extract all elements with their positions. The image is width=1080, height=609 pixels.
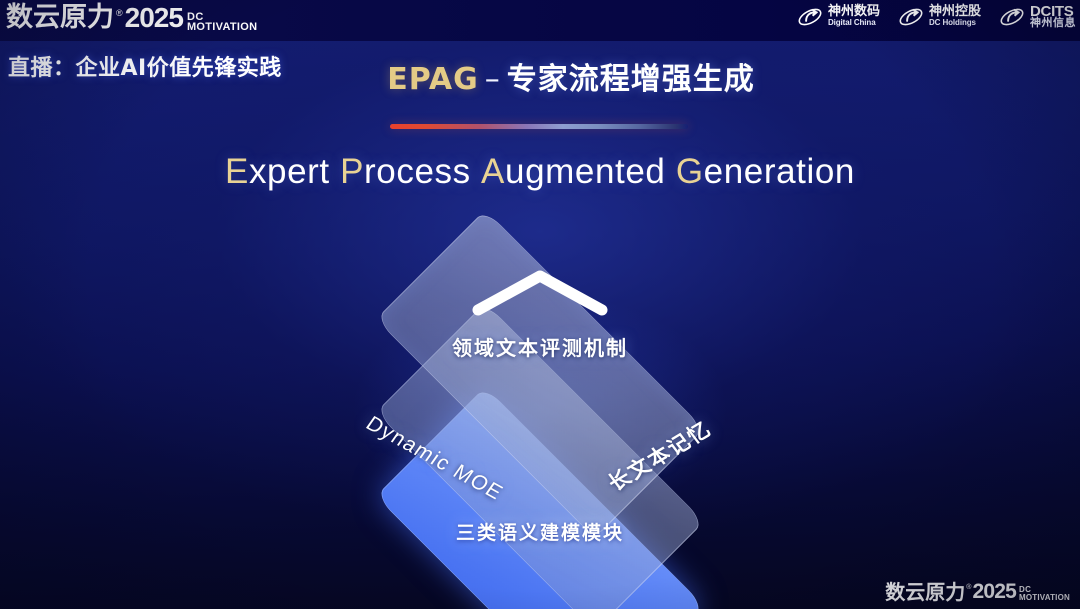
swirl-logo-icon <box>999 4 1025 30</box>
partner-name-cn: 神州控股 <box>929 6 981 17</box>
partner-logo-text: DCITS 神州信息 <box>1030 6 1076 28</box>
subtitle-rest-expert: xpert <box>249 152 330 191</box>
partner-logo-text: 神州控股 DC Holdings <box>929 6 981 28</box>
layered-architecture-diagram: 领域文本评测机制 Dynamic MOE 长文本记忆 三类语义建模模块 <box>0 224 1080 564</box>
subtitle-cap-a: A <box>481 152 505 191</box>
partner-logo-digital-china: 神州数码 Digital China <box>797 4 880 30</box>
swirl-logo-icon <box>797 4 823 30</box>
partner-logo-dc-holdings: 神州控股 DC Holdings <box>898 4 981 30</box>
subtitle-rest-augmented: ugmented <box>505 152 665 191</box>
subtitle-rest-process: rocess <box>364 152 471 191</box>
registered-mark: ® <box>116 5 123 33</box>
bottom-watermark-logo: 数云原力 ® 2025 DC MOTIVATION <box>885 581 1070 603</box>
swirl-logo-icon <box>898 4 924 30</box>
title-dash: – <box>479 62 507 97</box>
watermark-motivation: MOTIVATION <box>1019 594 1070 602</box>
partner-name-cn: 神州数码 <box>828 6 880 17</box>
subtitle-rest-generation: eneration <box>704 152 855 191</box>
partner-logo-text: 神州数码 Digital China <box>828 6 880 28</box>
watermark-name-cn: 数云原力 <box>885 581 965 603</box>
brand-name-cn: 数云原力 <box>6 3 114 33</box>
diagram-label-bottom: 三类语义建模模块 <box>0 518 1080 545</box>
subtitle-cap-p: P <box>340 152 364 191</box>
partner-name-cn: 神州信息 <box>1030 17 1076 28</box>
brand-dc-motivation: DC MOTIVATION <box>187 12 257 33</box>
watermark-year: 2025 <box>972 581 1016 603</box>
partner-logo-group: 神州数码 Digital China 神州控股 DC Holdings <box>797 4 1076 30</box>
partner-name-en: Digital China <box>828 17 880 28</box>
diagram-label-top: 领域文本评测机制 <box>0 332 1080 361</box>
page-title: EPAG–专家流程增强生成 <box>0 54 1080 98</box>
partner-logo-dcits: DCITS 神州信息 <box>999 4 1076 30</box>
brand-logo: 数云原力 ® 2025 DC MOTIVATION <box>6 3 257 33</box>
partner-name-en: DC Holdings <box>929 17 981 28</box>
brand-year: 2025 <box>125 3 183 33</box>
subtitle-expansion: Expert Process Augmented Generation <box>0 152 1080 192</box>
watermark-registered-mark: ® <box>966 582 971 603</box>
title-chinese: 专家流程增强生成 <box>507 62 755 97</box>
presentation-slide: 数云原力 ® 2025 DC MOTIVATION 神州数码 Digital C… <box>0 0 1080 609</box>
gradient-divider <box>390 124 688 129</box>
diagram-layer-top <box>385 219 695 529</box>
watermark-dc-motivation: DC MOTIVATION <box>1019 586 1070 603</box>
plate-face <box>376 210 705 539</box>
chevron-up-icon <box>470 268 610 316</box>
title-acronym: EPAG <box>387 62 479 97</box>
subtitle-cap-e: E <box>225 152 249 191</box>
brand-motivation: MOTIVATION <box>187 22 257 32</box>
subtitle-cap-g: G <box>676 152 704 191</box>
